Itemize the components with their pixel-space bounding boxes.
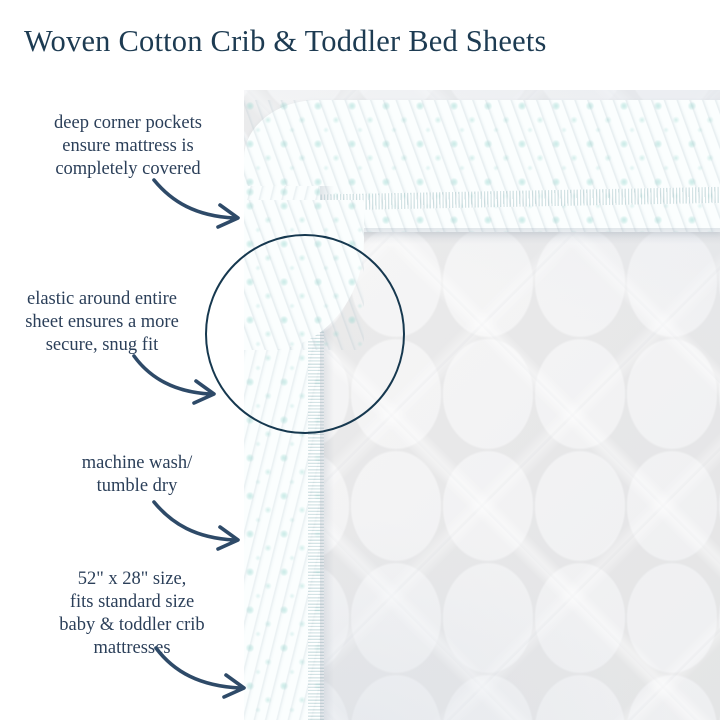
curved-arrow-icon [128, 348, 232, 410]
callout-deep-corner-pockets: deep corner pockets ensure mattress is c… [18, 112, 238, 181]
page-title: Woven Cotton Crib & Toddler Bed Sheets [24, 24, 704, 59]
curved-arrow-icon [148, 494, 256, 556]
callout-size-fit: 52" x 28" size, fits standard size baby … [32, 568, 232, 660]
product-photo [244, 90, 720, 720]
sheet-deep-corner-pocket [244, 200, 364, 350]
callout-machine-wash: machine wash/ tumble dry [42, 452, 232, 498]
sheet-weave-texture [244, 200, 364, 350]
callout-elastic-around-sheet: elastic around entire sheet ensures a mo… [4, 288, 200, 357]
product-infographic: Woven Cotton Crib & Toddler Bed Sheets [0, 0, 720, 720]
curved-arrow-icon [148, 172, 256, 234]
